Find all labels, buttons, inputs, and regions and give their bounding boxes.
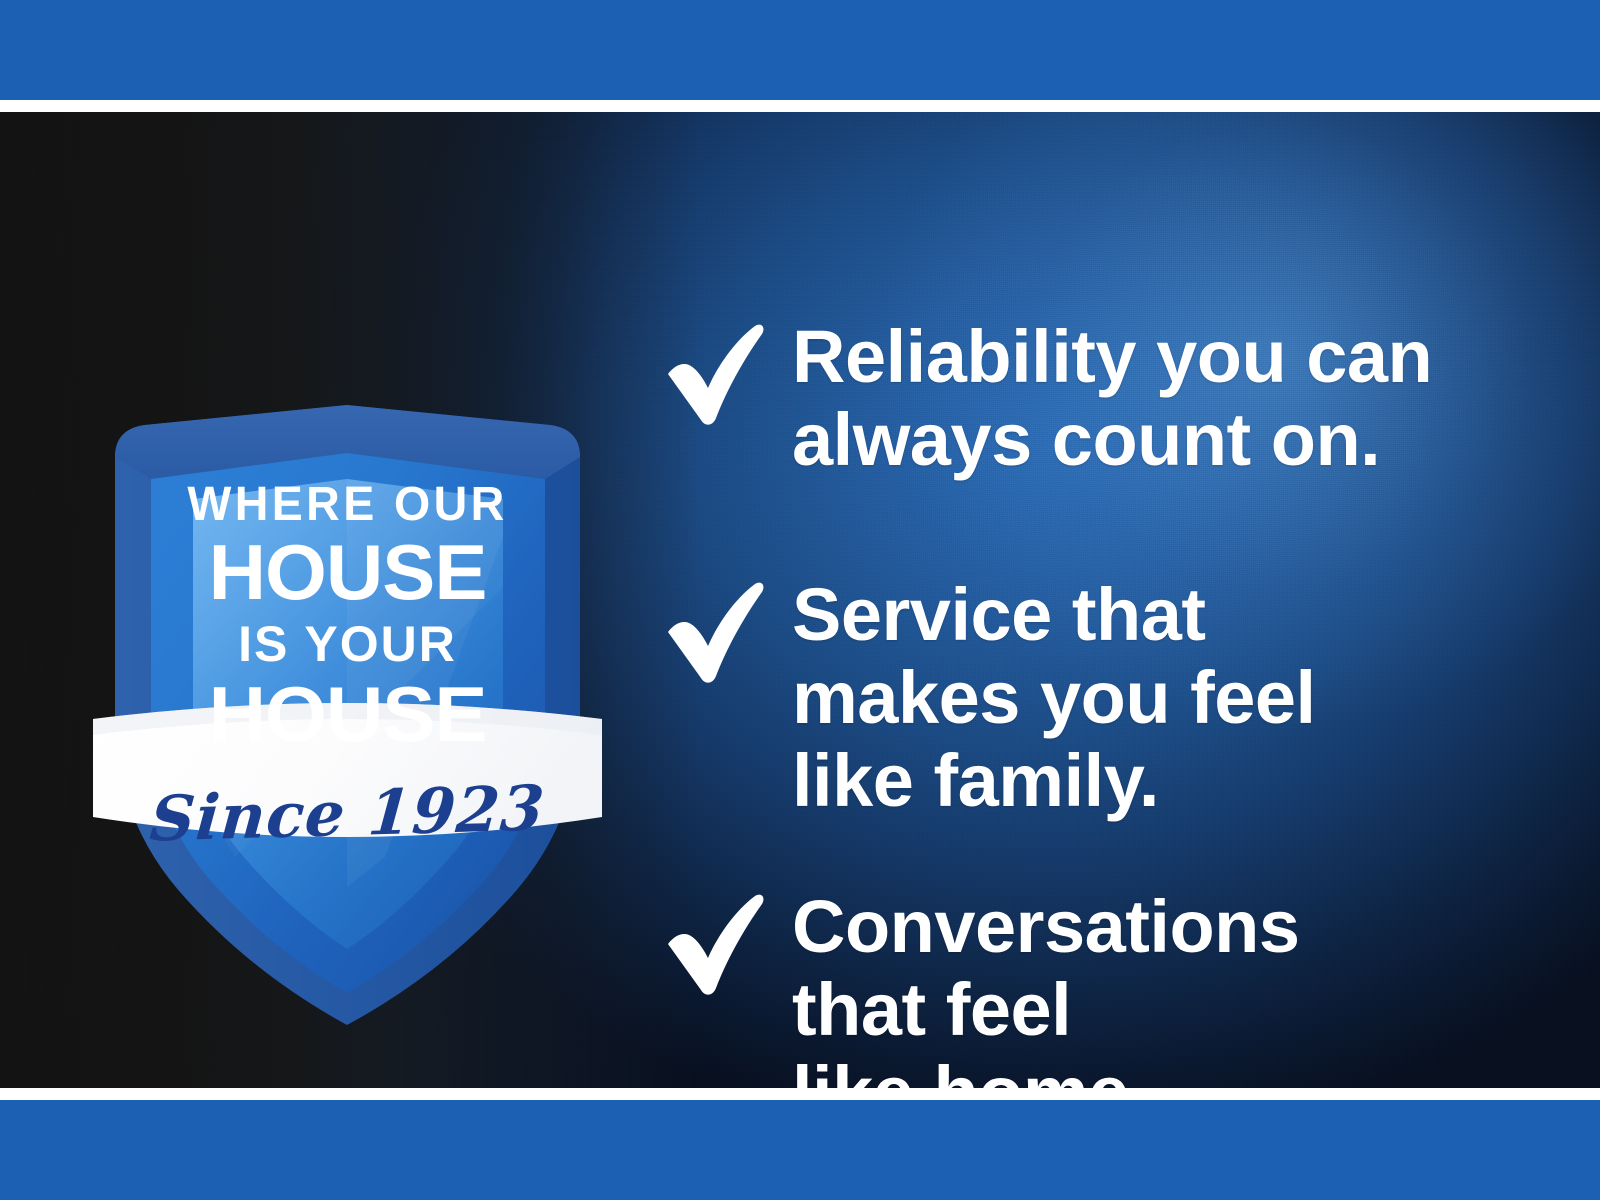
checkmark-icon [660, 570, 792, 688]
list-item-text: Service that makes you feel like family. [792, 570, 1316, 823]
top-divider [0, 100, 1600, 112]
list-item: Conversations that feel like home. [660, 882, 1300, 1088]
shield-badge-icon [85, 387, 610, 1037]
content-panel: WHERE OUR HOUSE IS YOUR HOUSE Since 1923… [0, 112, 1600, 1088]
promo-graphic: WHERE OUR HOUSE IS YOUR HOUSE Since 1923… [0, 0, 1600, 1200]
list-item: Service that makes you feel like family. [660, 570, 1316, 823]
checkmark-icon [660, 312, 792, 430]
benefits-list: Reliability you can always count on. Ser… [660, 302, 1540, 1088]
bottom-brand-bar [0, 1100, 1600, 1200]
top-brand-bar [0, 0, 1600, 100]
shield-badge: WHERE OUR HOUSE IS YOUR HOUSE Since 1923 [85, 387, 610, 1037]
bottom-divider [0, 1088, 1600, 1100]
list-item-text: Reliability you can always count on. [792, 312, 1432, 482]
checkmark-icon [660, 882, 792, 1000]
list-item-text: Conversations that feel like home. [792, 882, 1300, 1088]
list-item: Reliability you can always count on. [660, 312, 1432, 482]
